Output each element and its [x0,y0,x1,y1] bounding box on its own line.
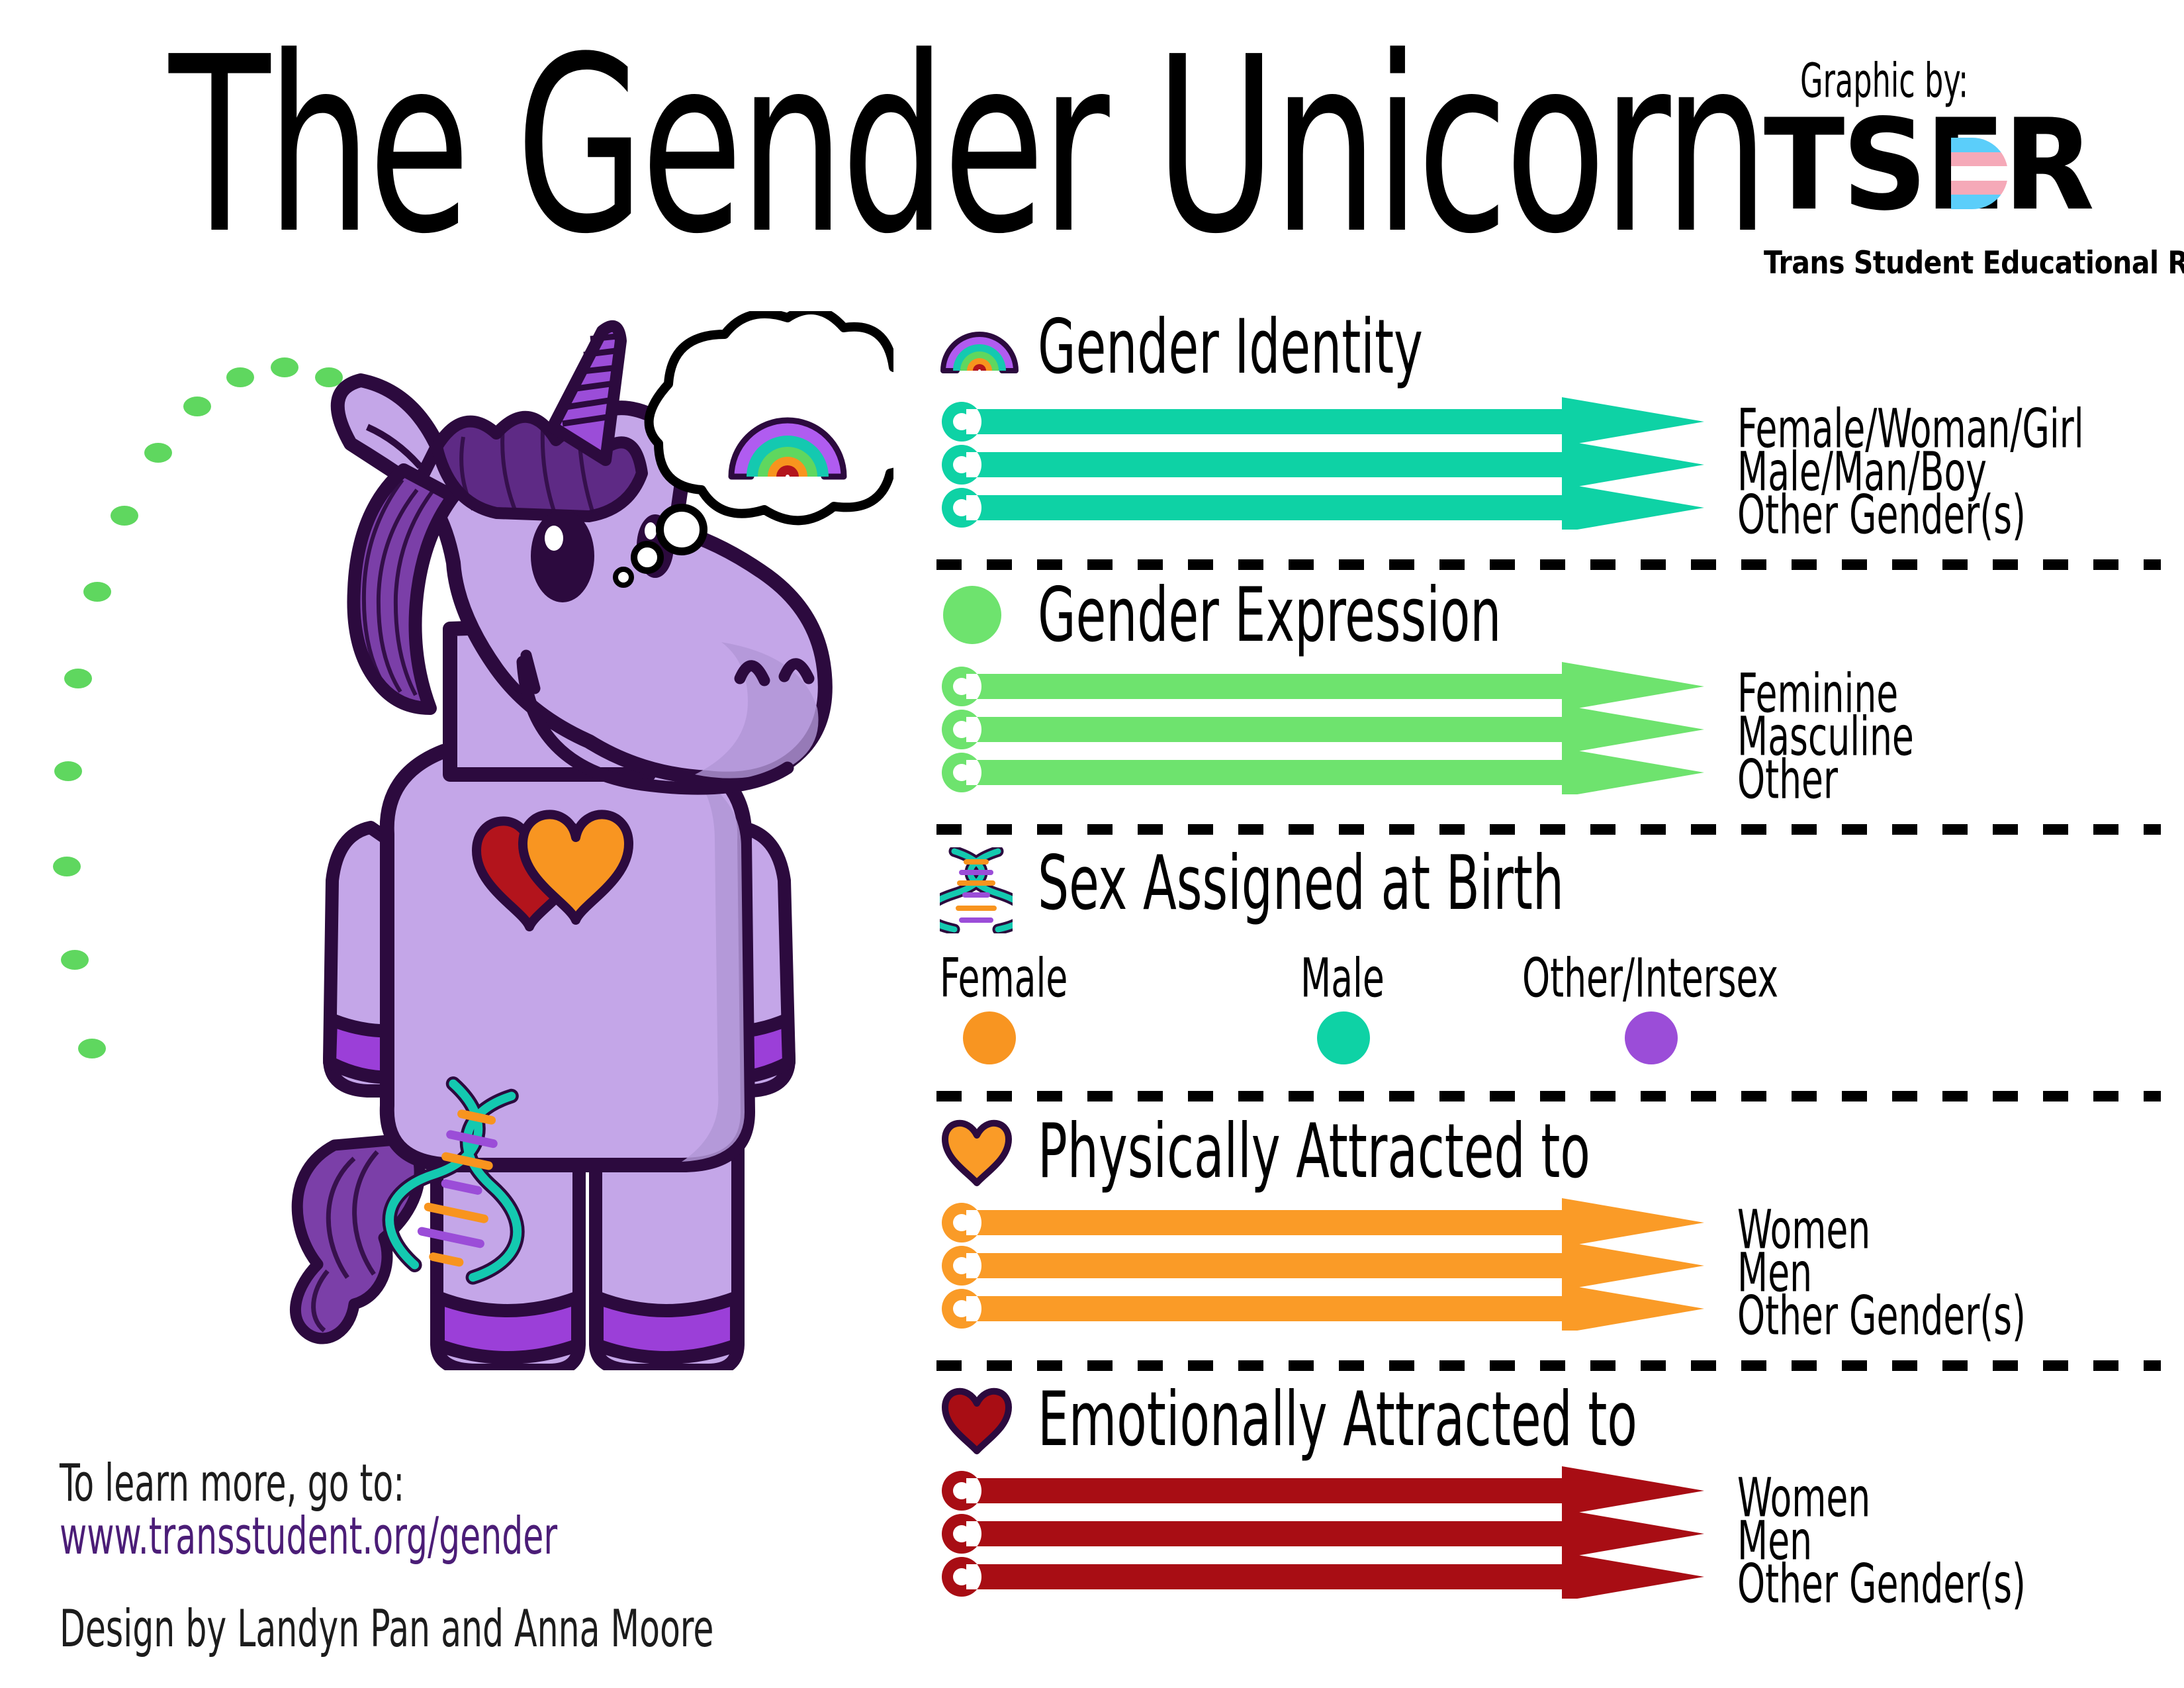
physically-attracted-arrows [936,1198,1704,1331]
section-title: Gender Expression [1038,571,1501,659]
decorative-dot [111,506,138,526]
sab-dot-male [1317,1011,1370,1064]
sab-label-female: Female [940,947,1068,1009]
section-divider [936,1091,2161,1102]
decorative-dot [61,950,89,970]
row-label: Other Gender(s) [1737,1284,2026,1347]
sab-dot-other-intersex [1625,1011,1678,1064]
row-label: Other [1737,748,1838,811]
sab-label-other-intersex: Other/Intersex [1522,947,1778,1009]
section-title: Emotionally Attracted to [1038,1376,1637,1463]
learn-more-label: To learn more, go to: [60,1453,404,1513]
section-divider [936,1360,2161,1371]
section-divider [936,824,2161,835]
unicorn-left-eye [531,510,594,602]
red-heart-icon [940,1383,1014,1455]
gender-expression-arrows [936,662,1704,794]
transstudent-url-link[interactable]: www.transstudent.org/gender [60,1506,557,1566]
orange-heart-icon [940,1115,1014,1187]
emotionally-attracted-arrows [936,1466,1704,1599]
section-divider [936,559,2161,570]
decorative-dot [183,397,211,416]
decorative-dot [78,1039,106,1058]
row-label: Other Gender(s) [1737,1552,2026,1615]
unicorn-horn [553,326,621,460]
decorative-dot [53,857,81,876]
design-credit: Design by Landyn Pan and Anna Moore [60,1599,713,1659]
unicorn-torso [387,751,748,1165]
tser-full-name: Trans Student Educational Resources [1764,245,2184,281]
dna-helix-icon [940,847,1013,933]
section-title: Sex Assigned at Birth [1038,839,1564,927]
arrow-row [942,397,1704,446]
decorative-dot [83,582,111,602]
decorative-dot [144,443,172,463]
green-circle-icon [943,586,1001,644]
unicorn-ear [338,381,437,487]
gender-identity-arrows [936,397,1704,530]
decorative-dot [64,669,92,688]
section-title: Physically Attracted to [1038,1107,1590,1195]
page-title: The Gender Unicorn [169,13,1584,280]
section-title: Gender Identity [1038,303,1423,391]
row-label: Other Gender(s) [1737,483,2026,546]
sab-dot-female [963,1011,1016,1064]
rainbow-arc-icon [940,318,1019,374]
unicorn-illustration [218,311,893,1370]
tser-logo: TSER [1764,106,2076,225]
sab-label-male: Male [1300,947,1385,1009]
decorative-dot [54,761,82,781]
tser-acronym: TSER [1764,106,2092,225]
